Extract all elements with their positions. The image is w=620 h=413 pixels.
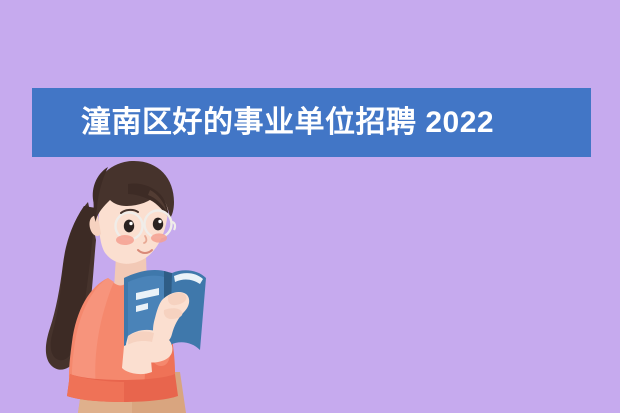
title-banner: 潼南区好的事业单位招聘 2022	[32, 88, 591, 157]
left-eye-icon	[124, 220, 134, 233]
poster-canvas: 潼南区好的事业单位招聘 2022	[0, 0, 620, 413]
left-forearm-icon	[122, 343, 152, 374]
woman-reading-book-illustration	[28, 160, 218, 413]
right-eye-glint-icon	[158, 220, 161, 223]
left-eye-glint-icon	[129, 222, 132, 225]
right-blush-icon	[151, 233, 167, 242]
left-blush-icon	[116, 235, 134, 245]
right-eye-icon	[153, 218, 163, 231]
page-title: 潼南区好的事业单位招聘 2022	[81, 108, 494, 138]
